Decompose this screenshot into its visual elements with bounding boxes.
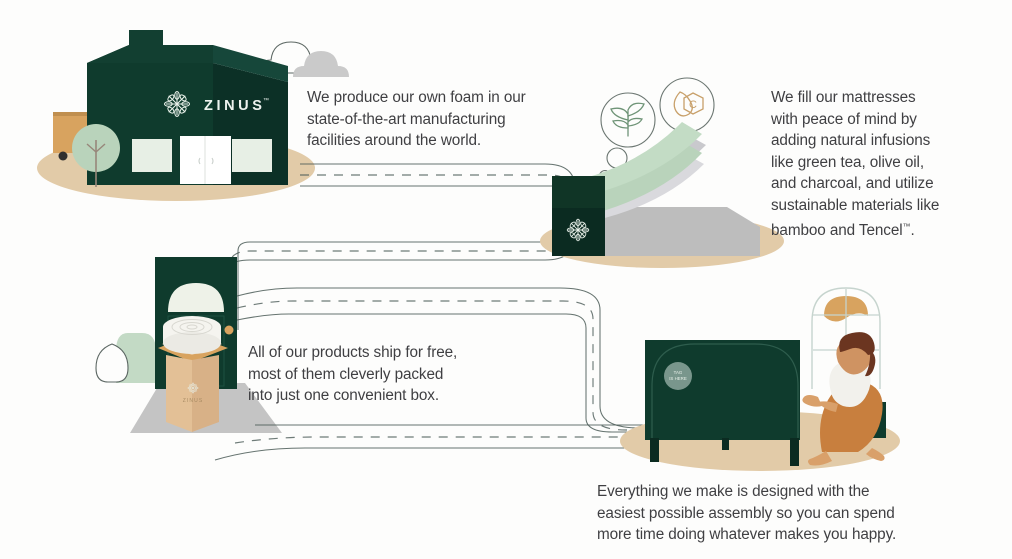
svg-text:C: C — [689, 99, 697, 111]
bed-leg-left — [650, 438, 659, 462]
shipping-box: ZINUS — [158, 316, 228, 432]
step-text-infusions-body: We fill our mattresses with peace of min… — [771, 89, 939, 239]
charcoal-infusion-icon: C — [660, 78, 714, 132]
step-text-infusions-period: . — [911, 222, 915, 239]
bed-leg-mid — [722, 438, 729, 450]
box-zinus-wordmark: ZINUS — [183, 398, 204, 404]
zinus-wordmark: ZINUS — [204, 98, 266, 114]
tag-badge-line1: TAG — [674, 370, 683, 375]
step-text-manufacturing: We produce our own foam in our state-of-… — [307, 87, 567, 152]
factory-window-right — [232, 139, 272, 172]
tag-badge-line2: IS HERE — [669, 376, 687, 381]
zinus-label-tag — [552, 176, 605, 256]
factory-window-left — [132, 139, 172, 172]
illustration-layer: ZINUS ™ — [0, 0, 1012, 559]
step-text-assembly: Everything we make is designed with the … — [597, 481, 957, 546]
step-text-infusions: We fill our mattresses with peace of min… — [771, 87, 1006, 242]
infographic-canvas: ZINUS ™ — [0, 0, 1012, 559]
rolled-mattress — [163, 316, 221, 354]
door-knob[interactable] — [225, 326, 234, 335]
leaf-infusion-icon — [601, 93, 655, 147]
trademark-symbol: ™ — [903, 222, 911, 231]
mattress-scene: C — [540, 78, 784, 268]
zinus-trademark-mark: ™ — [263, 97, 269, 104]
bed-leg-right — [790, 438, 799, 466]
bedroom-scene: TAG IS HERE — [620, 288, 900, 471]
step-text-shipping: All of our products ship for free, most … — [248, 342, 508, 407]
